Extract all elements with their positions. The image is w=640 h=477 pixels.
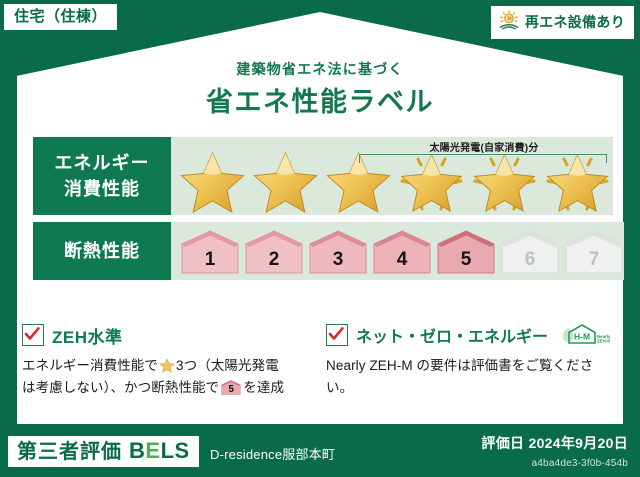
svg-text:ZEH-M: ZEH-M [597, 339, 610, 344]
third-party-eval-label: 第三者評価 [17, 442, 122, 462]
criterion-net-zero-body: Nearly ZEH-M の要件は評価書をご覧ください。 [326, 355, 614, 399]
criterion-zeh-header: ZEH水準 [22, 322, 310, 348]
label-subtitle: 建築物省エネ法に基づく [0, 59, 640, 79]
performance-section: エネルギー 消費性能 太陽光発電(自家消費)分 [33, 137, 607, 287]
criterion-zeh-text-post: を達成 [243, 380, 284, 395]
energy-label-line1: エネルギー [55, 150, 150, 176]
insulation-level-value: 7 [564, 250, 624, 269]
insulation-level-badge: 6 [500, 229, 560, 275]
building-type-chip: 住宅（住棟） [4, 4, 117, 30]
star-icon [177, 147, 248, 213]
bels-letter-b: B [129, 438, 145, 463]
renewable-energy-label: 再エネ設備あり [525, 15, 625, 29]
criterion-zeh-text-starcount: 3つ（太陽光発電 [176, 358, 279, 373]
insulation-level-badge-active: 5 [436, 229, 496, 275]
criterion-net-zero: ネット・ゼロ・エネルギー H-M Nearly ZEH-M Nearly ZEH… [326, 322, 614, 399]
insulation-level-badge: 4 [372, 229, 432, 275]
criteria-section: ZEH水準 エネルギー消費性能で3つ（太陽光発電は考慮しない）、かつ断熱性能で5… [22, 322, 618, 399]
criterion-zeh: ZEH水準 エネルギー消費性能で3つ（太陽光発電は考慮しない）、かつ断熱性能で5… [22, 322, 310, 399]
building-name: D-residence服部本町 [210, 444, 335, 463]
insulation-level-value: 3 [308, 250, 368, 269]
bels-logo: BELS [129, 440, 190, 462]
energy-performance-row: エネルギー 消費性能 太陽光発電(自家消費)分 [33, 137, 607, 215]
svg-text:H-M: H-M [574, 332, 590, 342]
insulation-level-scale: 1 2 3 [177, 223, 624, 280]
star-icon [250, 147, 321, 213]
energy-label-line2: 消費性能 [64, 176, 140, 202]
criterion-net-zero-header: ネット・ゼロ・エネルギー H-M Nearly ZEH-M [326, 322, 614, 348]
zeh-m-logo-icon: H-M Nearly ZEH-M [560, 322, 610, 348]
insulation-level-badge: 7 [564, 229, 624, 275]
solar-annotation-label: 太陽光発電(自家消費)分 [361, 139, 607, 154]
insulation-label: 断熱性能 [64, 238, 140, 264]
criterion-zeh-title: ZEH水準 [52, 323, 123, 348]
energy-performance-value-box: 太陽光発電(自家消費)分 [171, 137, 613, 215]
footer: 第三者評価 BELS D-residence服部本町 評価日 2024年9月20… [0, 429, 640, 477]
sun-icon [498, 10, 520, 34]
insulation-badge-inline-value: 5 [221, 385, 241, 395]
criterion-zeh-body: エネルギー消費性能で3つ（太陽光発電は考慮しない）、かつ断熱性能で5を達成 [22, 355, 310, 399]
insulation-level-value: 4 [372, 250, 432, 269]
insulation-badge-inline: 5 [221, 379, 241, 396]
insulation-level-value: 6 [500, 250, 560, 269]
building-type-label: 住宅（住棟） [14, 8, 107, 25]
insulation-level-value: 1 [180, 250, 240, 269]
solar-annotation-bracket [359, 154, 607, 163]
insulation-performance-value-box: 1 2 3 [171, 222, 624, 280]
insulation-performance-row: 断熱性能 1 [33, 222, 607, 280]
energy-performance-label-box: エネルギー 消費性能 [33, 137, 171, 215]
insulation-level-badge: 2 [244, 229, 304, 275]
bels-letters-ls: LS [161, 438, 190, 463]
bels-certification-chip: 第三者評価 BELS [8, 436, 199, 467]
checkbox-checked-icon [22, 324, 44, 346]
insulation-performance-label-box: 断熱性能 [33, 222, 171, 280]
criterion-net-zero-title: ネット・ゼロ・エネルギー [356, 323, 548, 347]
criterion-zeh-text-pre: エネルギー消費性能で [22, 358, 158, 373]
insulation-level-value: 2 [244, 250, 304, 269]
bels-letter-e: E [145, 438, 160, 463]
insulation-level-badge: 1 [180, 229, 240, 275]
energy-performance-label: 住宅（住棟） 再エネ設備あり 建築物省エネ法 [0, 0, 640, 477]
checkbox-checked-icon [326, 324, 348, 346]
insulation-level-value: 5 [436, 250, 496, 269]
criterion-zeh-text-mid: は考慮しない）、かつ断熱性能で [22, 380, 219, 395]
renewable-energy-badge: 再エネ設備あり [491, 6, 634, 39]
evaluation-id: a4ba4de3-3f0b-454b [532, 458, 628, 469]
evaluation-date: 評価日 2024年9月20日 [481, 433, 628, 453]
page-title: 省エネ性能ラベル [0, 80, 640, 119]
insulation-level-badge: 3 [308, 229, 368, 275]
star-icon-inline [159, 357, 175, 373]
